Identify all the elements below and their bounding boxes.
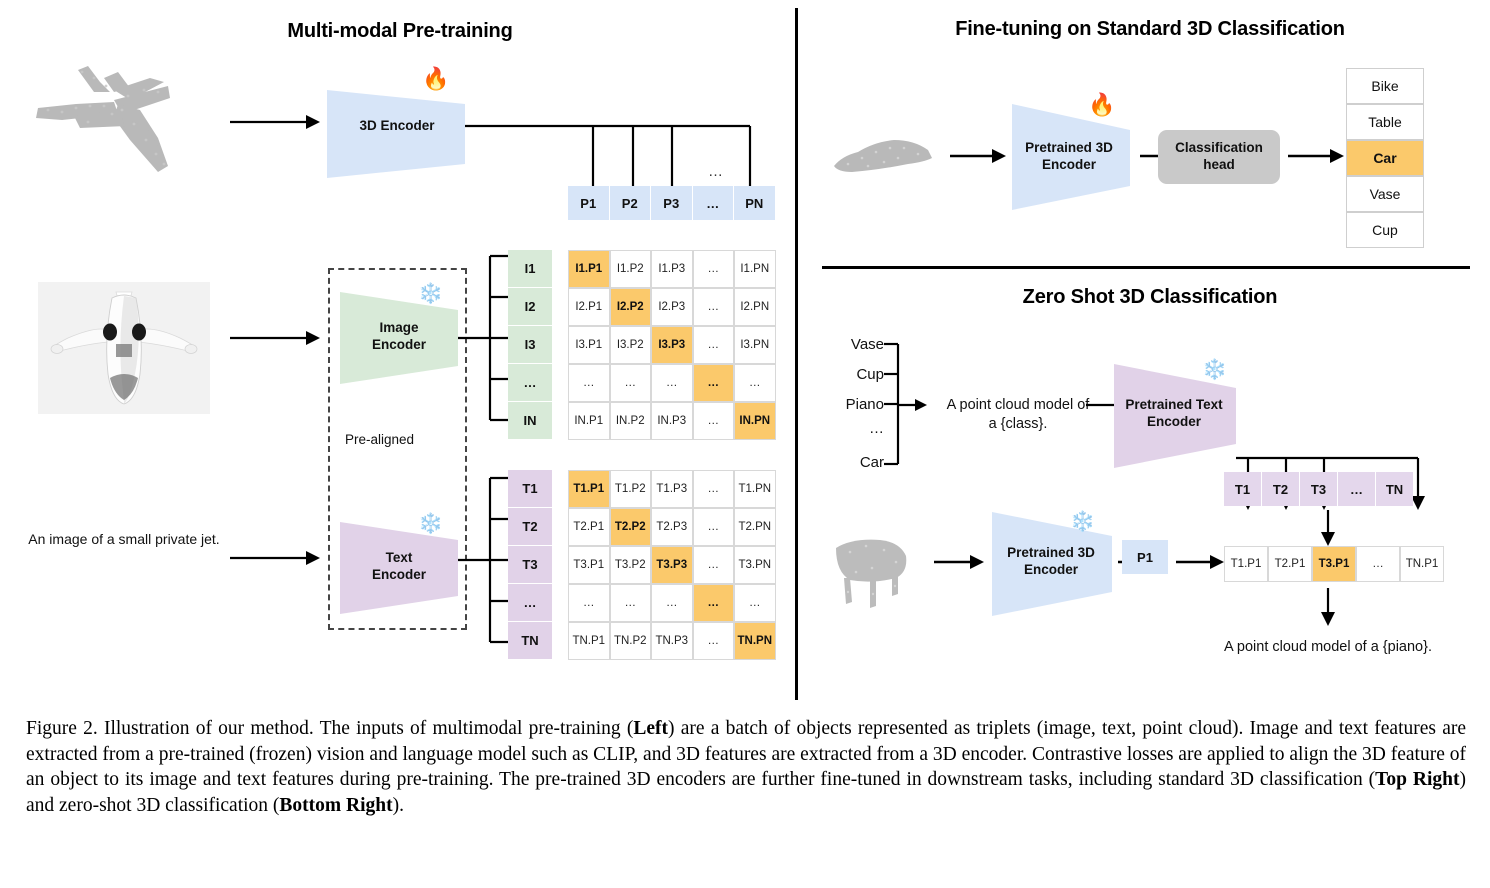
p-token-1: P1: [568, 186, 609, 220]
image-matrix-cell-5-4: …: [693, 402, 735, 440]
caption-part1: Figure 2. Illustration of our method. Th…: [26, 718, 633, 739]
ft-encoder-line2: Encoder: [1042, 157, 1096, 172]
t-token-5: TN: [508, 622, 552, 659]
top-right-panel-title: Fine-tuning on Standard 3D Classificatio…: [860, 18, 1440, 41]
image-matrix-cell-4-2: …: [610, 364, 652, 402]
left-panel-title: Multi-modal Pre-training: [140, 20, 660, 43]
caption-bold1: Left: [633, 718, 668, 739]
figure-caption: Figure 2. Illustration of our method. Th…: [26, 716, 1466, 819]
arrow-text-to-encoder: [230, 546, 320, 570]
arrow-car-to-encoder: [950, 146, 1006, 166]
text-matrix-cell-5-5: TN.PN: [734, 622, 776, 660]
rendered-jet-image: [38, 282, 210, 414]
image-matrix-cell-1-5: I1.PN: [734, 250, 776, 288]
t-token-2: T2: [508, 508, 552, 545]
classification-head-box[interactable]: Classification head: [1158, 130, 1280, 184]
text-matrix-cell-3-4: …: [693, 546, 735, 584]
p-token-5: PN: [734, 186, 775, 220]
fire-icon: 🔥: [422, 68, 449, 90]
vertical-divider: [795, 8, 798, 700]
zs-score-cell-4: …: [1356, 546, 1400, 582]
text-matrix-cell-5-4: …: [693, 622, 735, 660]
t-token-3: T3: [508, 546, 552, 583]
image-matrix-cell-5-3: IN.P3: [651, 402, 693, 440]
head-line1: Classification: [1175, 140, 1263, 155]
class-option-car[interactable]: Car: [1346, 140, 1424, 176]
arrow-scores-to-result: [1320, 588, 1336, 626]
p-token-2: P2: [610, 186, 651, 220]
zeroshot-class-2: Cup: [828, 366, 884, 383]
image-matrix-cell-3-5: I3.PN: [734, 326, 776, 364]
pretrained-3d-encoder-label-zs: Pretrained 3D Encoder: [990, 545, 1112, 579]
zeroshot-class-5: Car: [828, 454, 884, 471]
zs-t-token-2: T2: [1262, 472, 1299, 506]
image-matrix-cell-5-2: IN.P2: [610, 402, 652, 440]
text-matrix-cell-1-1: T1.P1: [568, 470, 610, 508]
zs-3d-enc-line2: Encoder: [1024, 562, 1078, 577]
text-matrix-cell-3-5: T3.PN: [734, 546, 776, 584]
image-matrix-cell-1-1: I1.P1: [568, 250, 610, 288]
image-matrix-cell-5-1: IN.P1: [568, 402, 610, 440]
zs-score-cell-5: TN.P1: [1400, 546, 1444, 582]
prompt-template: A point cloud model of a {class}.: [928, 396, 1108, 434]
zs-t-token-4: …: [1338, 472, 1375, 506]
input-text-caption: An image of a small private jet.: [24, 530, 224, 548]
image-matrix-cell-3-1: I3.P1: [568, 326, 610, 364]
class-option-vase[interactable]: Vase: [1346, 176, 1424, 212]
prompt-line2: a {class}.: [989, 416, 1048, 432]
text-matrix-cell-4-5: …: [734, 584, 776, 622]
prompt-line1: A point cloud model of: [947, 397, 1090, 413]
text-matrix-cell-4-1: …: [568, 584, 610, 622]
zs-t-token-5: TN: [1376, 472, 1413, 506]
arrow-p1-to-scores: [1176, 552, 1224, 572]
point-cloud-car-icon: [828, 128, 938, 188]
zs-t-token-1: T1: [1224, 472, 1261, 506]
point-cloud-piano-icon: [826, 528, 922, 618]
text-encoder-label: Text Encoder: [340, 550, 458, 584]
arrow-classes-to-prompt: [897, 396, 927, 414]
p-token-3: P3: [651, 186, 692, 220]
arrow-head-to-classes: [1288, 146, 1344, 166]
text-matrix-cell-2-2: T2.P2: [610, 508, 652, 546]
pretrained-3d-encoder-label-finetune: Pretrained 3D Encoder: [1010, 140, 1128, 174]
head-line2: head: [1203, 157, 1235, 172]
text-matrix-cell-5-3: TN.P3: [651, 622, 693, 660]
snowflake-icon-image-encoder: ❄️: [418, 284, 443, 304]
image-matrix-cell-1-2: I1.P2: [610, 250, 652, 288]
text-matrix-cell-1-3: T1.P3: [651, 470, 693, 508]
text-matrix-cell-1-5: T1.PN: [734, 470, 776, 508]
text-matrix-cell-4-3: …: [651, 584, 693, 622]
image-matrix-cell-2-5: I2.PN: [734, 288, 776, 326]
text-matrix-cell-1-2: T1.P2: [610, 470, 652, 508]
i-token-1: I1: [508, 250, 552, 287]
zs-score-cell-1: T1.P1: [1224, 546, 1268, 582]
image-matrix-cell-2-1: I2.P1: [568, 288, 610, 326]
text-encoder-label-line2: Encoder: [372, 567, 426, 582]
zs-score-cell-2: T2.P1: [1268, 546, 1312, 582]
zs-text-enc-line1: Pretrained Text: [1125, 397, 1222, 412]
svg-text:…: …: [708, 163, 723, 180]
horizontal-divider: [822, 266, 1470, 269]
t-token-4: …: [508, 584, 552, 621]
text-encoder-label-line1: Text: [386, 550, 413, 565]
arrow-t-row-to-scores: [1320, 510, 1336, 546]
arrow-pointcloud-to-encoder: [230, 110, 320, 134]
text-matrix-cell-2-3: T2.P3: [651, 508, 693, 546]
caption-bold2: Top Right: [1375, 769, 1459, 790]
i-token-5: IN: [508, 402, 552, 439]
3d-encoder-label: 3D Encoder: [327, 118, 467, 135]
text-matrix-cell-4-2: …: [610, 584, 652, 622]
image-encoder-label: Image Encoder: [340, 320, 458, 354]
zs-t-token-3: T3: [1300, 472, 1337, 506]
class-option-cup[interactable]: Cup: [1346, 212, 1424, 248]
class-option-table[interactable]: Table: [1346, 104, 1424, 140]
image-matrix-cell-1-3: I1.P3: [651, 250, 693, 288]
zs-3d-enc-line1: Pretrained 3D: [1007, 545, 1095, 560]
ft-encoder-line1: Pretrained 3D: [1025, 140, 1113, 155]
snowflake-icon-text-encoder-zs: ❄️: [1202, 360, 1227, 380]
text-matrix-cell-3-3: T3.P3: [651, 546, 693, 584]
image-matrix-cell-1-4: …: [693, 250, 735, 288]
image-encoder-label-line1: Image: [379, 320, 418, 335]
image-matrix-cell-4-5: …: [734, 364, 776, 402]
image-matrix-cell-4-3: …: [651, 364, 693, 402]
fire-icon-finetune: 🔥: [1088, 94, 1115, 116]
image-matrix-cell-3-4: …: [693, 326, 735, 364]
image-matrix-cell-4-4: …: [693, 364, 735, 402]
text-matrix-cell-4-4: …: [693, 584, 735, 622]
p1-token-zs: P1: [1122, 540, 1168, 574]
zs-text-enc-line2: Encoder: [1147, 414, 1201, 429]
p-token-4: …: [693, 186, 734, 220]
arrow-piano-to-encoder: [934, 552, 984, 572]
caption-bold3: Bottom Right: [279, 795, 392, 816]
text-matrix-cell-2-1: T2.P1: [568, 508, 610, 546]
figure-canvas: Multi-modal Pre-training Fine-tuning on …: [0, 0, 1490, 710]
t-token-1: T1: [508, 470, 552, 507]
text-matrix-cell-3-2: T3.P2: [610, 546, 652, 584]
text-matrix-cell-2-5: T2.PN: [734, 508, 776, 546]
i-token-2: I2: [508, 288, 552, 325]
text-matrix-cell-1-4: …: [693, 470, 735, 508]
image-encoder-label-line2: Encoder: [372, 337, 426, 352]
text-matrix-cell-3-1: T3.P1: [568, 546, 610, 584]
image-matrix-cell-2-3: I2.P3: [651, 288, 693, 326]
image-matrix-cell-5-5: IN.PN: [734, 402, 776, 440]
class-option-bike[interactable]: Bike: [1346, 68, 1424, 104]
bottom-right-panel-title: Zero Shot 3D Classification: [900, 286, 1400, 309]
zs-score-cell-3: T3.P1: [1312, 546, 1356, 582]
caption-part4: ).: [393, 795, 404, 816]
zeroshot-class-1: Vase: [828, 336, 884, 353]
pretrained-text-encoder-label: Pretrained Text Encoder: [1112, 397, 1236, 431]
image-matrix-cell-4-1: …: [568, 364, 610, 402]
zeroshot-class-3: Piano: [828, 396, 884, 413]
image-matrix-cell-2-2: I2.P2: [610, 288, 652, 326]
point-cloud-jet-icon: [18, 48, 228, 208]
text-matrix-cell-2-4: …: [693, 508, 735, 546]
image-matrix-cell-3-3: I3.P3: [651, 326, 693, 364]
text-matrix-cell-5-1: TN.P1: [568, 622, 610, 660]
snowflake-icon-3d-encoder-zs: ❄️: [1070, 512, 1095, 532]
text-matrix-cell-5-2: TN.P2: [610, 622, 652, 660]
i-token-4: …: [508, 364, 552, 401]
zeroshot-result-text: A point cloud model of a {piano}.: [1178, 638, 1478, 657]
pre-aligned-label: Pre-aligned: [345, 432, 414, 447]
i-token-3: I3: [508, 326, 552, 363]
arrow-image-to-encoder: [230, 326, 320, 350]
image-matrix-cell-2-4: …: [693, 288, 735, 326]
snowflake-icon-text-encoder: ❄️: [418, 514, 443, 534]
image-matrix-cell-3-2: I3.P2: [610, 326, 652, 364]
zeroshot-class-4: …: [828, 420, 884, 437]
